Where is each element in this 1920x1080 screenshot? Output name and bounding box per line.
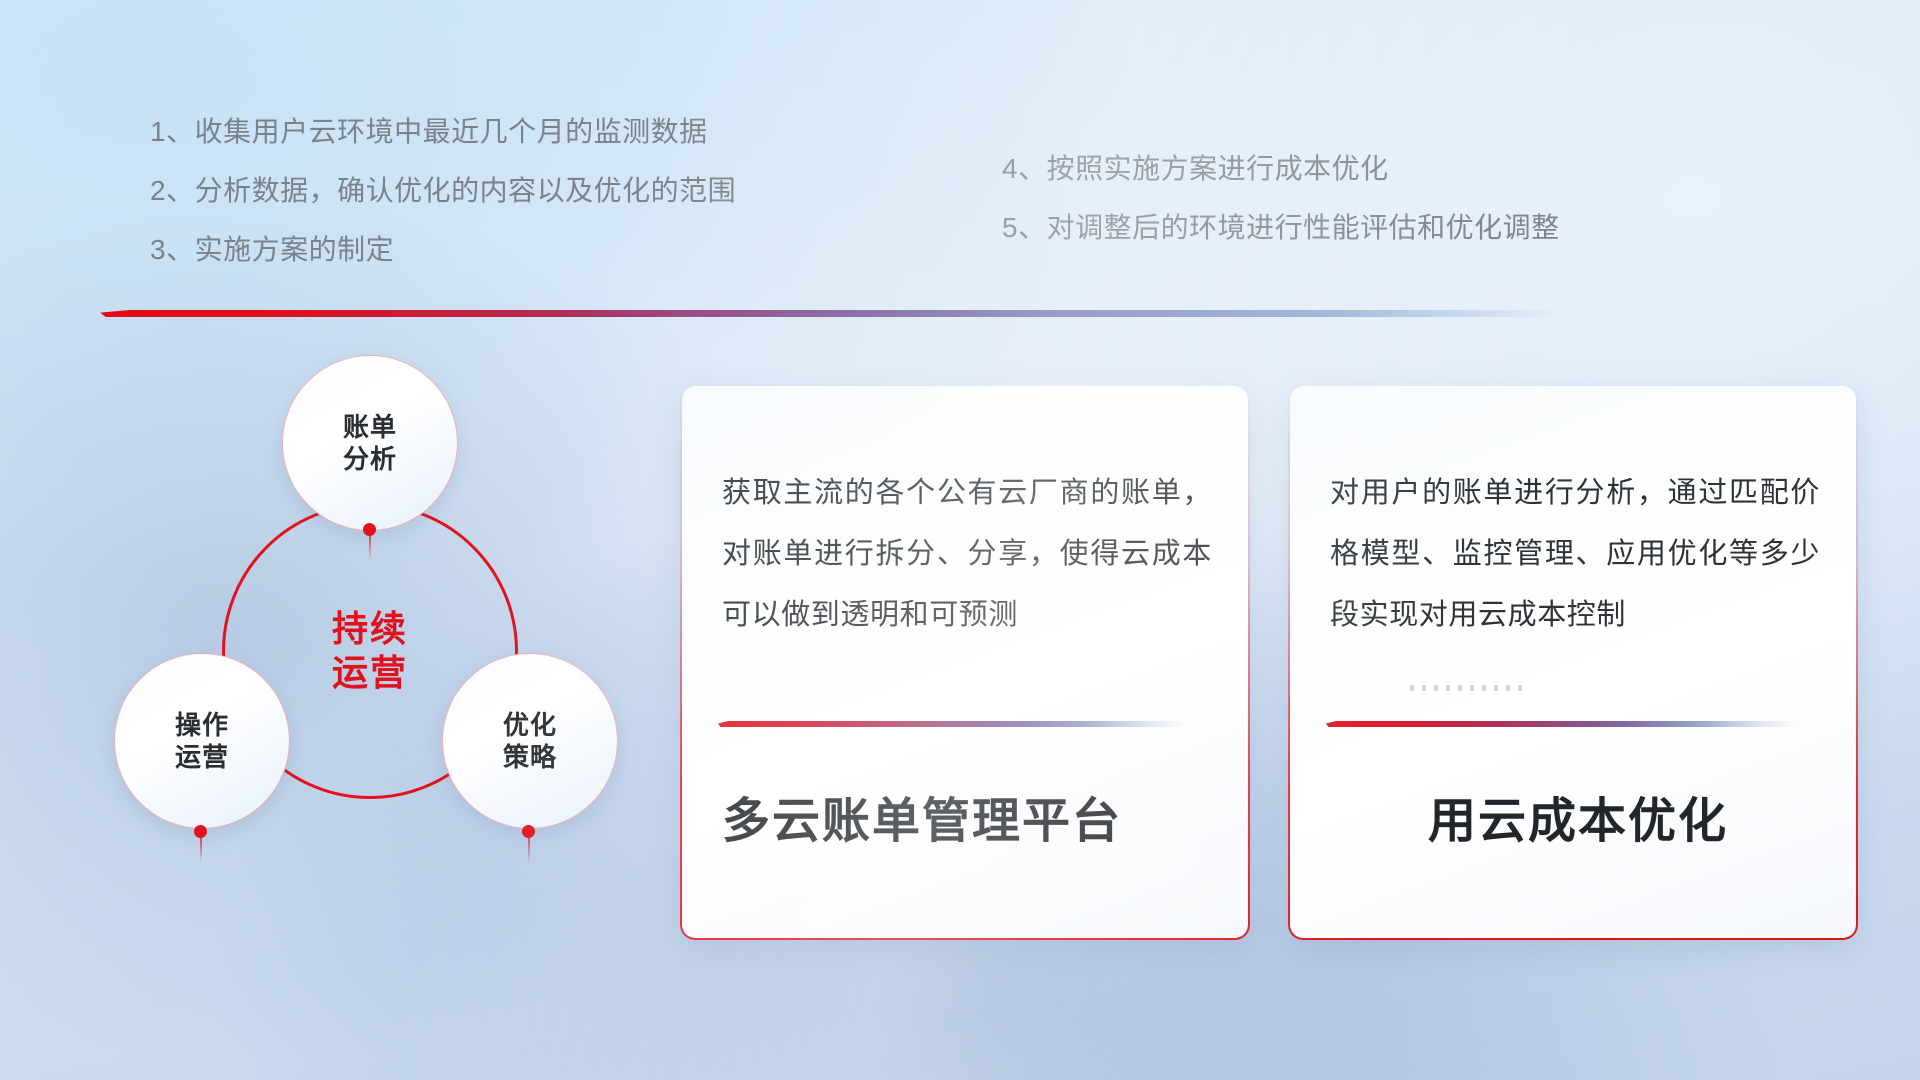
bubble-label-line2: 运营 <box>175 741 229 774</box>
card-accent-rule <box>718 721 1188 727</box>
connector-tail-top <box>369 535 371 561</box>
center-label-line2: 运营 <box>332 651 408 695</box>
step-item: 5、对调整后的环境进行性能评估和优化调整 <box>1002 214 1560 242</box>
connector-tail-left <box>200 837 202 863</box>
card-accent-rule <box>1326 721 1796 727</box>
step-item: 1、收集用户云环境中最近几个月的监测数据 <box>150 118 736 146</box>
card-body-text: 获取主流的各个公有云厂商的账单，对账单进行拆分、分享，使得云成本可以做到透明和可… <box>722 463 1212 646</box>
feature-card-multicloud-billing[interactable]: 获取主流的各个公有云厂商的账单，对账单进行拆分、分享，使得云成本可以做到透明和可… <box>682 386 1248 938</box>
card-body-ellipsis <box>1410 685 1530 691</box>
continuous-operation-diagram: 账单 分析 操作 运营 优化 策略 持续 运营 <box>90 355 650 935</box>
connector-tail-right <box>528 837 530 863</box>
bubble-label-line1: 账单 <box>343 411 397 444</box>
card-title: 多云账单管理平台 <box>722 793 1218 851</box>
steps-list-right: 4、按照实施方案进行成本优化 5、对调整后的环境进行性能评估和优化调整 <box>1002 155 1560 273</box>
steps-list-left: 1、收集用户云环境中最近几个月的监测数据 2、分析数据，确认优化的内容以及优化的… <box>150 118 736 295</box>
bubble-label-line2: 分析 <box>343 443 397 476</box>
card-body-text: 对用户的账单进行分析，通过匹配价格模型、监控管理、应用优化等多少段实现对用云成本… <box>1330 463 1820 646</box>
center-label-line1: 持续 <box>332 607 408 651</box>
bubble-label-line1: 操作 <box>175 709 229 742</box>
step-item: 4、按照实施方案进行成本优化 <box>1002 155 1560 183</box>
card-title: 用云成本优化 <box>1330 793 1826 851</box>
feature-card-cloud-cost-optimization[interactable]: 对用户的账单进行分析，通过匹配价格模型、监控管理、应用优化等多少段实现对用云成本… <box>1290 386 1856 938</box>
slide-canvas: 1、收集用户云环境中最近几个月的监测数据 2、分析数据，确认优化的内容以及优化的… <box>0 0 1920 1080</box>
section-divider <box>100 310 1560 317</box>
step-item: 3、实施方案的制定 <box>150 236 736 264</box>
step-item: 2、分析数据，确认优化的内容以及优化的范围 <box>150 177 736 205</box>
